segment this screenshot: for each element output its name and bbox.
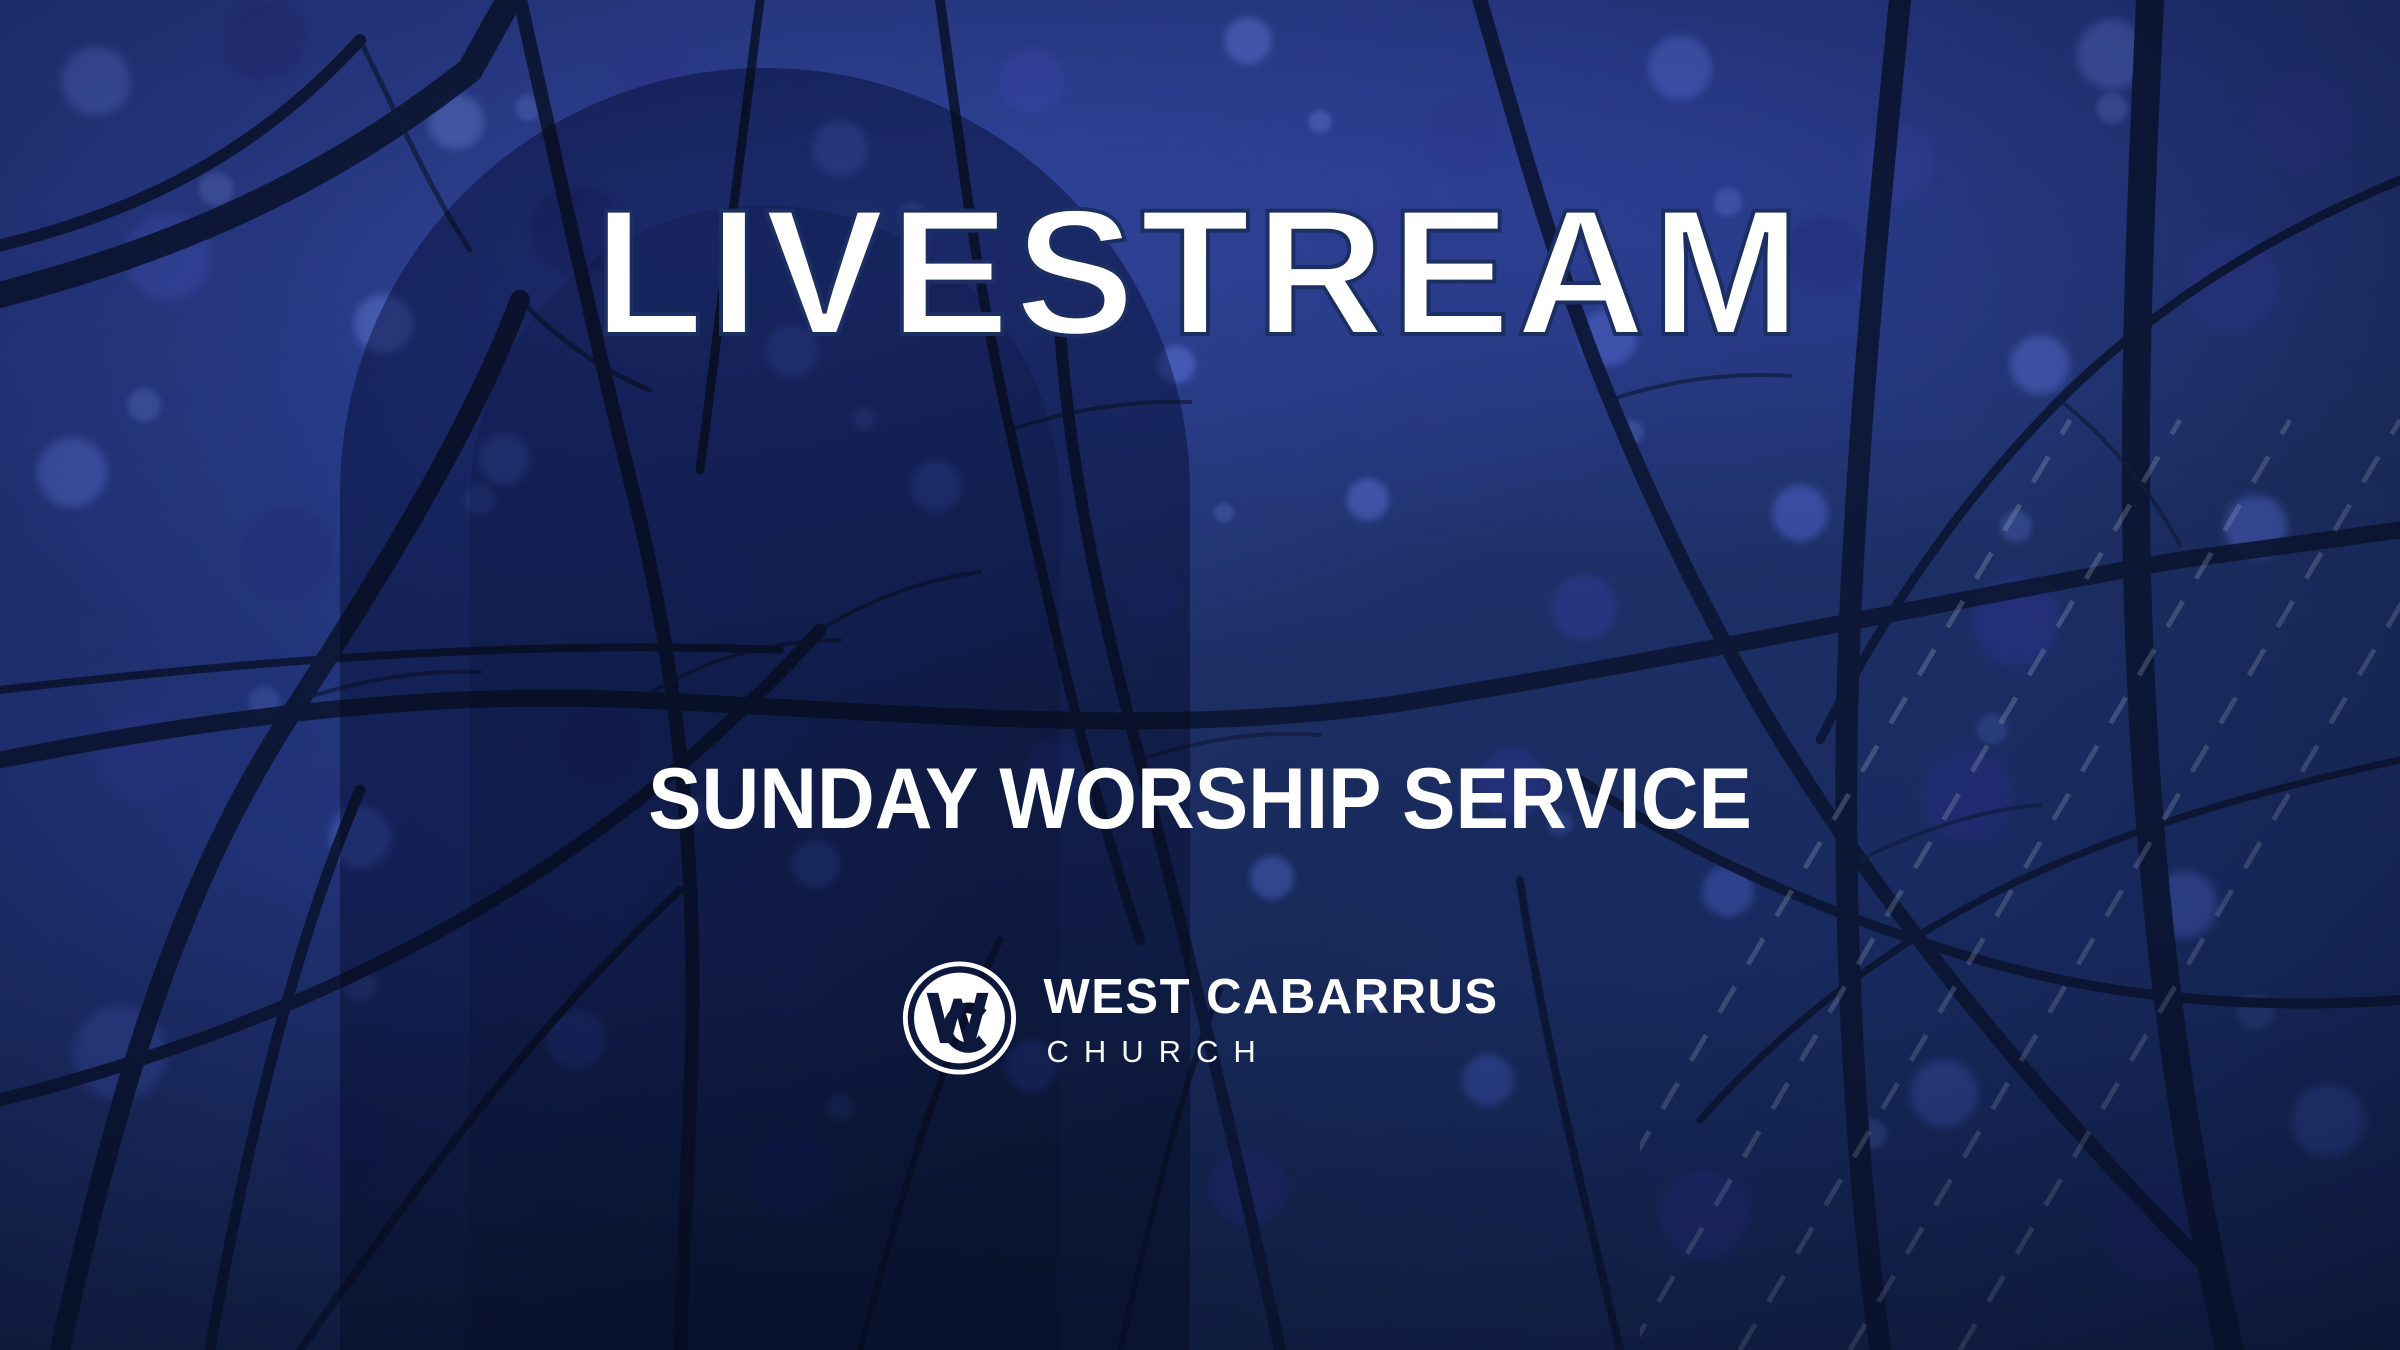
headline-text-inline-stroke: LIVESTREAM bbox=[594, 172, 1806, 372]
content-layer: LIVESTREAM LIVESTREAM SUNDAY WORSHIP SER… bbox=[0, 0, 2400, 1350]
logo-sub-church: CHURCH bbox=[1046, 1036, 1270, 1067]
wc-circle-monogram-icon bbox=[901, 960, 1017, 1076]
logo-name-west-cabarrus: WEST CABARRUS bbox=[1043, 973, 1498, 1022]
headline-livestream: LIVESTREAM LIVESTREAM bbox=[280, 372, 2120, 572]
headline-block: LIVESTREAM LIVESTREAM bbox=[0, 372, 2400, 572]
livestream-graphic: LIVESTREAM LIVESTREAM SUNDAY WORSHIP SER… bbox=[0, 0, 2400, 1350]
logo-wordmark: WEST CABARRUS CHURCH bbox=[1043, 969, 1498, 1067]
subtitle-sunday-worship-service: SUNDAY WORSHIP SERVICE bbox=[84, 756, 2316, 842]
logo-lockup: WEST CABARRUS CHURCH bbox=[901, 960, 1498, 1076]
